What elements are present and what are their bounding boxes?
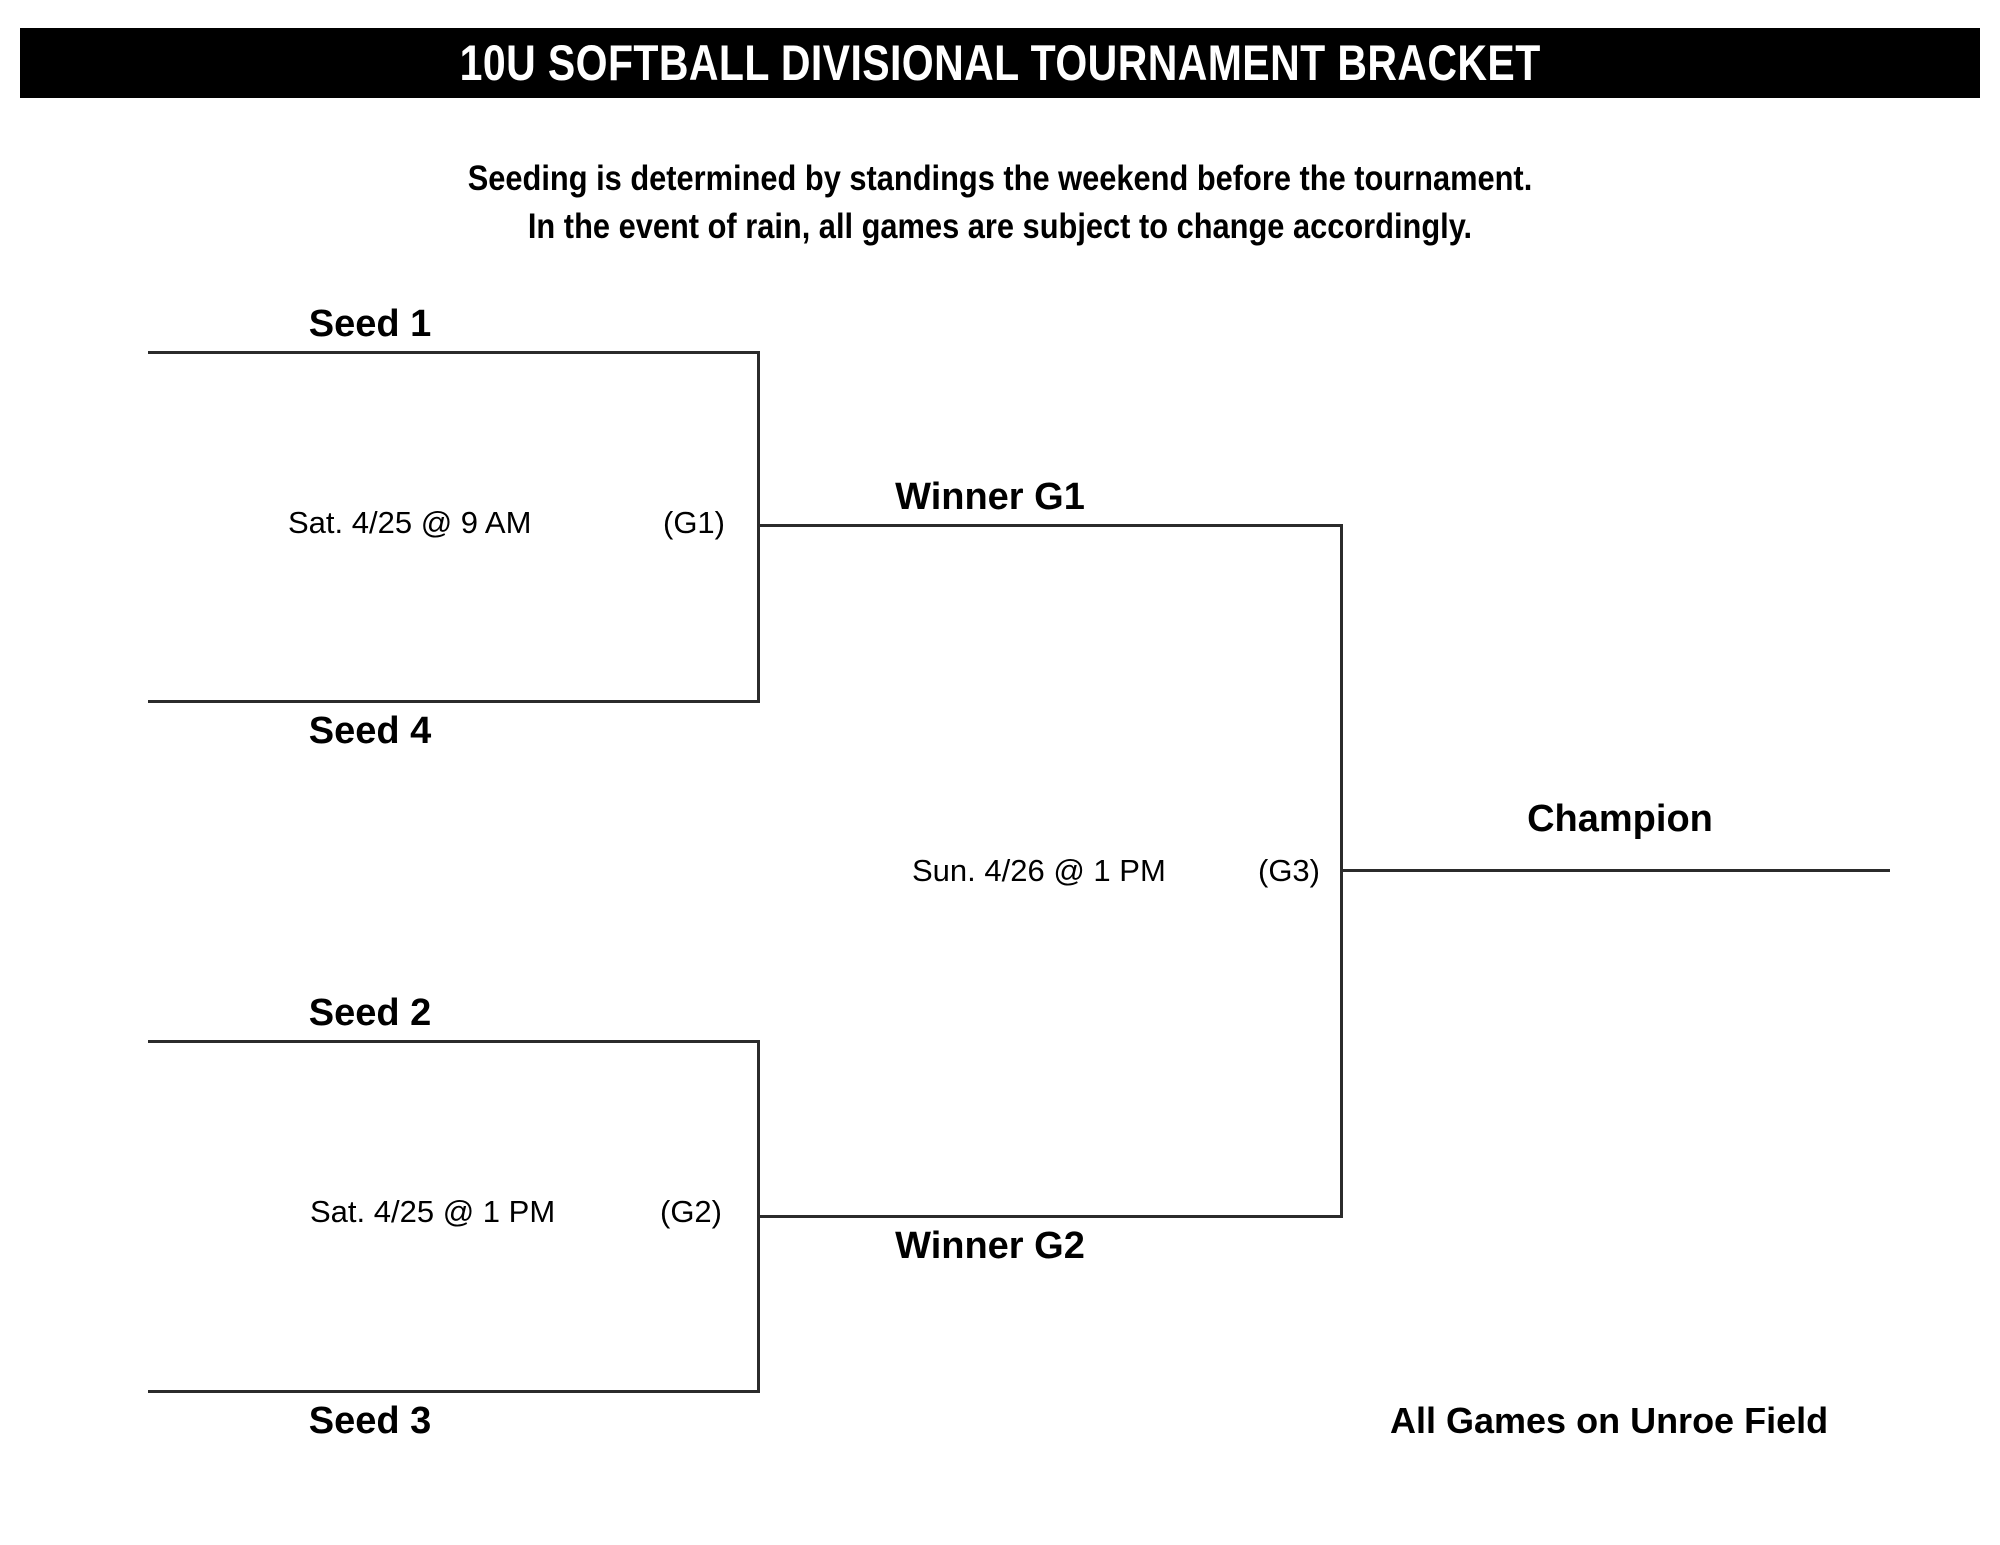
slot-winner-g1: Winner G1 bbox=[800, 478, 1180, 516]
header-bar: 10U SOFTBALL DIVISIONAL TOURNAMENT BRACK… bbox=[20, 28, 1980, 98]
bracket-page: 10U SOFTBALL DIVISIONAL TOURNAMENT BRACK… bbox=[0, 0, 2000, 1545]
page-title: 10U SOFTBALL DIVISIONAL TOURNAMENT BRACK… bbox=[459, 38, 1540, 88]
slot-champion: Champion bbox=[1450, 800, 1790, 838]
bracket-line-seed4 bbox=[148, 700, 760, 703]
game-time-g2: Sat. 4/25 @ 1 PM bbox=[310, 1196, 555, 1227]
footer-note: All Games on Unroe Field bbox=[1390, 1400, 1828, 1442]
slot-winner-g2: Winner G2 bbox=[800, 1227, 1180, 1265]
game-time-g1: Sat. 4/25 @ 9 AM bbox=[288, 507, 531, 538]
subtitle-line-2: In the event of rain, all games are subj… bbox=[120, 203, 1880, 251]
subtitle-block: Seeding is determined by standings the w… bbox=[120, 155, 1880, 251]
bracket-line-seed1 bbox=[148, 351, 760, 354]
game-time-g3: Sun. 4/26 @ 1 PM bbox=[912, 855, 1166, 886]
game-code-g3: (G3) bbox=[1258, 855, 1320, 886]
slot-seed-3: Seed 3 bbox=[230, 1402, 510, 1440]
bracket-line-winner-g1 bbox=[757, 524, 1343, 527]
slot-seed-2: Seed 2 bbox=[230, 994, 510, 1032]
game-code-g2: (G2) bbox=[660, 1196, 722, 1227]
slot-seed-4: Seed 4 bbox=[230, 712, 510, 750]
subtitle-line-1: Seeding is determined by standings the w… bbox=[120, 155, 1880, 203]
game-code-g1: (G1) bbox=[663, 507, 725, 538]
bracket-line-winner-g2 bbox=[757, 1215, 1343, 1218]
bracket-line-seed2 bbox=[148, 1040, 760, 1043]
bracket-line-seed3 bbox=[148, 1390, 760, 1393]
slot-seed-1: Seed 1 bbox=[230, 305, 510, 343]
bracket-connector-g1 bbox=[757, 351, 760, 703]
bracket-line-champion bbox=[1340, 869, 1890, 872]
